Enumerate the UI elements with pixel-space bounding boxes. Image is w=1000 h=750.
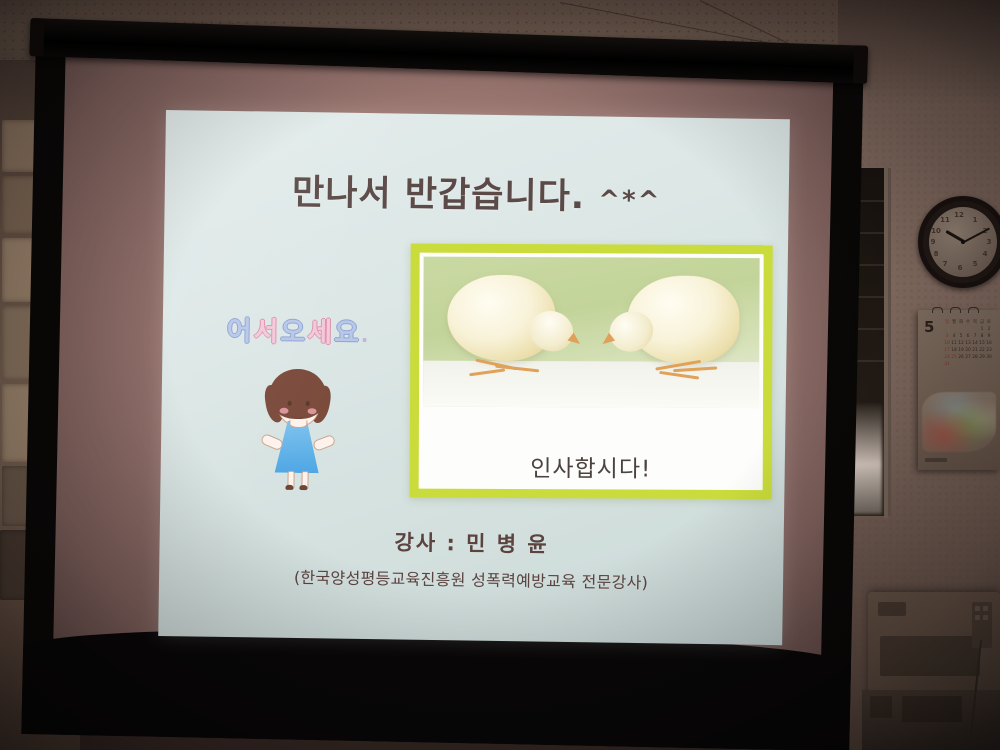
girl-arm-left [260, 433, 285, 452]
calendar-day: 10 [944, 340, 950, 347]
calendar-day: 2 [986, 326, 992, 333]
presentation-slide: 만나서 반갑습니다. ^*^ 어서오 세요. [158, 110, 790, 645]
clock-numeral: 5 [970, 259, 980, 269]
calendar-spiral [950, 307, 961, 313]
slide-title: 만나서 반갑습니다. ^*^ [164, 162, 789, 222]
clock-center-pin [961, 240, 965, 244]
calendar-month: 5 [924, 318, 934, 336]
calendar-spiral [932, 307, 943, 313]
clock-face: 12 1 2 3 4 5 6 7 8 9 10 11 [929, 207, 997, 277]
chick-photograph [423, 257, 760, 408]
calendar-day: 9 [986, 333, 992, 340]
calendar-day: 24 [944, 354, 950, 361]
calendar-week-row: 24 25 26 27 28 29 30 [944, 354, 996, 361]
calendar-weekday: 월 [951, 319, 957, 326]
girl-eye-right [306, 401, 310, 406]
calendar-day: 18 [951, 347, 957, 354]
calendar-day: 4 [951, 333, 957, 340]
calendar-day [972, 326, 978, 333]
calendar-illustration [922, 392, 996, 452]
calendar-day: 22 [979, 347, 985, 354]
photo-caption: 인사합시다! [419, 449, 763, 485]
clock-numeral: 11 [940, 215, 950, 225]
wall-calendar: 5 일 월 화 수 목 금 토 1 2 3 4 [918, 310, 1000, 470]
calendar-header-row: 일 월 화 수 목 금 토 [944, 319, 996, 326]
photograph-classroom-projection: 12 1 2 3 4 5 6 7 8 9 10 11 5 일 월 화 [0, 0, 1000, 750]
calendar-day: 13 [965, 340, 971, 347]
girl-cheek-left [280, 408, 289, 414]
photo-inner-mat: 인사합시다! [419, 253, 764, 490]
calendar-week-row: 1 2 [944, 326, 996, 333]
girl-collar [289, 420, 307, 428]
calendar-day: 8 [979, 333, 985, 340]
chick-photo-frame: 인사합시다! [410, 244, 773, 500]
appliance-button[interactable] [983, 615, 988, 620]
clock-numeral: 7 [940, 259, 950, 269]
clock-numeral: 6 [955, 263, 965, 273]
clock-numeral: 9 [928, 237, 938, 247]
calendar-day: 15 [979, 340, 985, 347]
housing-end-cap [29, 18, 44, 56]
clock-numeral: 12 [954, 210, 964, 220]
girl-eye-left [288, 401, 292, 406]
welcome-char: 오 [280, 310, 307, 349]
floor-appliance-base [862, 690, 1000, 750]
appliance-vent [902, 696, 962, 722]
calendar-day: 5 [958, 333, 964, 340]
wall-clock: 12 1 2 3 4 5 6 7 8 9 10 11 [918, 196, 1000, 288]
calendar-weekday: 화 [958, 319, 964, 326]
appliance-vent [878, 602, 906, 616]
clock-numeral: 8 [931, 249, 941, 259]
calendar-day [951, 326, 957, 333]
appliance-button[interactable] [983, 606, 988, 611]
welcome-char: 요 [334, 311, 361, 350]
calendar-day: 25 [951, 354, 957, 361]
slide-title-text: 만나서 반갑습니다. [292, 173, 586, 217]
calendar-day [958, 326, 964, 333]
clock-numeral: 1 [970, 215, 980, 225]
window-frame [884, 166, 888, 518]
girl-arm-right [312, 434, 336, 452]
girl-shoe-right [299, 485, 307, 490]
appliance-vent [870, 696, 892, 718]
appliance-grille [880, 636, 980, 676]
calendar-day: 29 [979, 354, 985, 361]
welcome-char: 서 [253, 309, 280, 348]
calendar-weekday: 일 [944, 319, 950, 326]
calendar-day: 12 [958, 340, 964, 347]
appliance-button[interactable] [975, 606, 980, 611]
welcome-char: 어 [226, 309, 253, 348]
clock-numeral: 10 [931, 226, 941, 236]
calendar-day [965, 326, 971, 333]
welcome-handwriting: 어서오 세요. [226, 309, 417, 358]
calendar-day: 7 [972, 333, 978, 340]
welcome-char: 세 [307, 310, 334, 349]
calendar-day: 28 [972, 354, 978, 361]
calendar-day [944, 326, 950, 333]
appliance-button[interactable] [975, 615, 980, 620]
calendar-day: 23 [986, 347, 992, 354]
calendar-weekday: 토 [986, 319, 992, 326]
calendar-spiral [968, 307, 979, 313]
lecturer-name: 강사 : 민 병 윤 [159, 523, 783, 562]
calendar-weekday: 금 [979, 319, 985, 326]
calendar-day: 20 [965, 347, 971, 354]
calendar-day: 16 [986, 340, 992, 347]
calendar-week-row: 10 11 12 13 14 15 16 [944, 340, 996, 347]
calendar-weekday: 목 [972, 319, 978, 326]
welcome-period: . [361, 323, 371, 347]
cartoon-girl-illustration [250, 366, 344, 485]
calendar-day: 30 [986, 354, 992, 361]
calendar-day: 31 [944, 361, 950, 368]
calendar-grid: 일 월 화 수 목 금 토 1 2 3 4 5 6 [944, 319, 996, 368]
calendar-day: 21 [972, 347, 978, 354]
housing-end-cap [853, 45, 868, 83]
lecturer-affiliation: (한국양성평등교육진흥원 성폭력예방교육 전문강사) [159, 562, 783, 595]
calendar-day: 27 [965, 354, 971, 361]
calendar-weekday: 수 [965, 319, 971, 326]
clock-numeral: 3 [984, 237, 994, 247]
calendar-day: 1 [979, 326, 985, 333]
girl-cheek-right [308, 408, 317, 414]
appliance-control-panel[interactable] [972, 602, 992, 648]
calendar-day: 14 [972, 340, 978, 347]
calendar-day: 11 [951, 340, 957, 347]
calendar-day: 26 [958, 354, 964, 361]
calendar-logo [925, 458, 947, 462]
calendar-week-row: 17 18 19 20 21 22 23 [944, 347, 996, 354]
clock-numeral: 4 [980, 249, 990, 259]
calendar-day: 3 [944, 333, 950, 340]
calendar-day: 17 [944, 347, 950, 354]
calendar-week-row: 3 4 5 6 7 8 9 [944, 333, 996, 340]
slide-title-emoticon: ^*^ [598, 185, 662, 216]
calendar-day: 19 [958, 347, 964, 354]
calendar-day: 6 [965, 333, 971, 340]
girl-shoe-left [285, 485, 293, 490]
calendar-week-row: 31 [944, 361, 996, 368]
girl-mouth [291, 411, 304, 419]
